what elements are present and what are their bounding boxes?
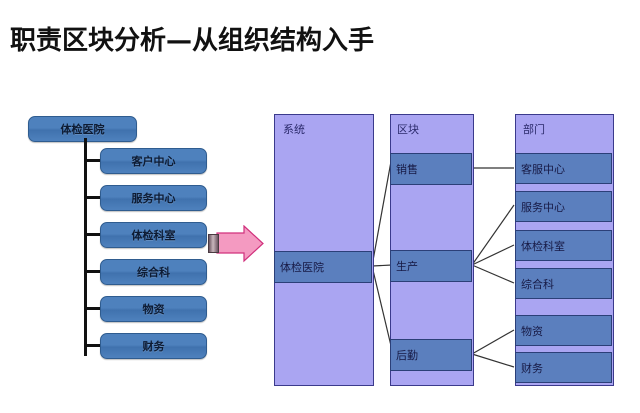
matrix-column-header-department: 部门 xyxy=(523,121,545,137)
matrix-cell-dept-exam-dept[interactable]: 体检科室 xyxy=(515,230,612,261)
org-tree-node-exam-dept[interactable]: 体检科室 xyxy=(100,222,207,248)
matrix-cell-dept-finance[interactable]: 财务 xyxy=(515,352,612,383)
matrix-column-department: 部门 客服中心 服务中心 体检科室 综合科 物资 财务 xyxy=(515,114,614,386)
org-tree-node-service-center[interactable]: 服务中心 xyxy=(100,185,207,211)
matrix-cell-dept-general-dept[interactable]: 综合科 xyxy=(515,268,612,299)
matrix-cell-label: 财务 xyxy=(521,360,543,376)
org-tree-node-label: 物资 xyxy=(143,301,165,317)
matrix-cell-system-hospital[interactable]: 体检医院 xyxy=(274,251,372,283)
org-tree-branch-line-6 xyxy=(84,344,101,347)
org-tree-trunk-line xyxy=(84,138,87,356)
org-tree: 体检医院 客户中心 服务中心 体检科室 综合科 物资 财务 xyxy=(0,0,265,413)
matrix-cell-label: 体检科室 xyxy=(521,238,565,254)
org-tree-branch-line-1 xyxy=(84,159,101,162)
matrix-cell-label: 体检医院 xyxy=(280,259,324,275)
org-tree-node-label: 客户中心 xyxy=(132,153,176,169)
matrix-cell-dept-customer-service[interactable]: 客服中心 xyxy=(515,153,612,184)
org-tree-node-general-dept[interactable]: 综合科 xyxy=(100,259,207,285)
matrix-column-block: 区块 销售 生产 后勤 xyxy=(390,114,474,386)
matrix-cell-label: 物资 xyxy=(521,323,543,339)
org-tree-node-label: 财务 xyxy=(143,338,165,354)
matrix-cell-dept-materials[interactable]: 物资 xyxy=(515,315,612,346)
org-tree-node-label: 综合科 xyxy=(137,264,170,280)
org-tree-branch-line-4 xyxy=(84,270,101,273)
matrix-cell-label: 后勤 xyxy=(396,347,418,363)
right-block-arrow-icon xyxy=(208,225,266,263)
matrix-cell-label: 销售 xyxy=(396,161,418,177)
matrix-cell-dept-service-center[interactable]: 服务中心 xyxy=(515,191,612,222)
org-tree-node-materials[interactable]: 物资 xyxy=(100,296,207,322)
org-tree-node-finance[interactable]: 财务 xyxy=(100,333,207,359)
org-tree-node-customer-center[interactable]: 客户中心 xyxy=(100,148,207,174)
org-tree-branch-line-2 xyxy=(84,196,101,199)
matrix-column-header-block: 区块 xyxy=(397,121,419,137)
org-tree-node-label: 体检科室 xyxy=(132,227,176,243)
matrix-cell-label: 综合科 xyxy=(521,276,554,292)
matrix-cell-block-production[interactable]: 生产 xyxy=(390,250,472,282)
matrix-cell-label: 生产 xyxy=(396,258,418,274)
slide-canvas: 职责区块分析—从组织结构入手 体检医院 客户中心 服务中心 体检科室 综合科 物… xyxy=(0,0,640,413)
org-tree-branch-line-5 xyxy=(84,307,101,310)
matrix-column-header-system: 系统 xyxy=(283,121,305,137)
matrix-cell-label: 服务中心 xyxy=(521,199,565,215)
org-tree-root-label: 体检医院 xyxy=(61,121,105,137)
matrix-column-system: 系统 体检医院 xyxy=(274,114,374,386)
matrix-cell-label: 客服中心 xyxy=(521,161,565,177)
arrow-tail-icon xyxy=(208,234,219,253)
matrix-cell-block-sales[interactable]: 销售 xyxy=(390,153,472,185)
org-tree-root-node[interactable]: 体检医院 xyxy=(28,116,137,142)
org-tree-branch-line-3 xyxy=(84,233,101,236)
matrix-cell-block-logistics[interactable]: 后勤 xyxy=(390,339,472,371)
org-tree-node-label: 服务中心 xyxy=(132,190,176,206)
